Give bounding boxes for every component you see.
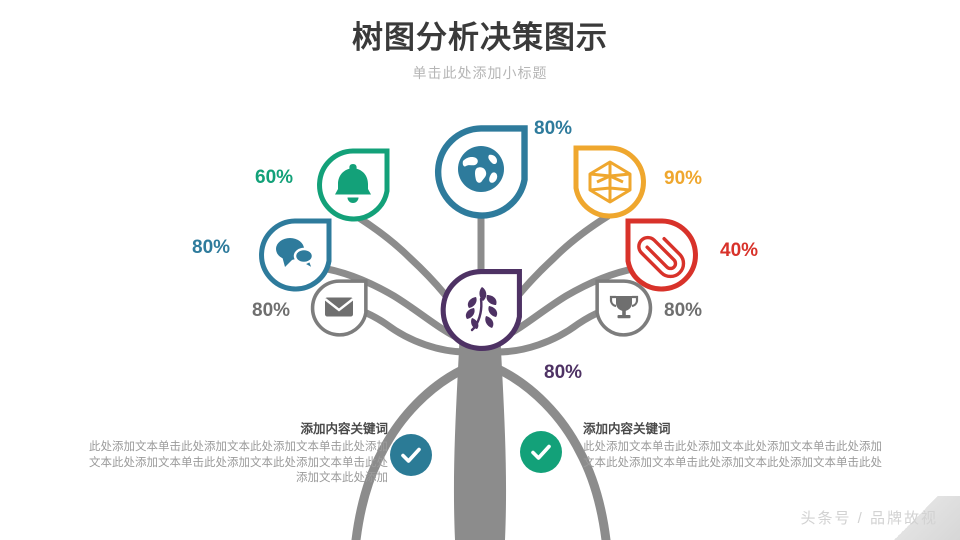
slide-canvas: 树图分析决策图示 单击此处添加小标题 [0, 0, 960, 540]
pct-label-trophy: 80% [664, 300, 702, 322]
pct-label-box: 90% [664, 168, 702, 190]
content-body-right: 此处添加文本单击此处添加文本此处添加文本单击此处添加文本此处添加文本单击此处添加… [583, 440, 883, 471]
pct-label-chat: 80% [192, 237, 230, 259]
node-chat[interactable] [262, 221, 329, 289]
content-keyword-right: 添加内容关键词 [583, 420, 883, 438]
node-bell[interactable] [320, 151, 387, 219]
check-icon [529, 440, 553, 464]
check-badge-right[interactable] [520, 431, 562, 473]
pct-label-mail: 80% [252, 300, 290, 322]
node-mail[interactable] [313, 281, 366, 335]
check-badge-left[interactable] [390, 434, 432, 476]
content-body-left: 此处添加文本单击此处添加文本此处添加文本单击此处添加文本此处添加文本单击此处添加… [88, 440, 388, 487]
check-icon [399, 443, 423, 467]
node-globe[interactable] [438, 128, 524, 215]
node-box[interactable] [576, 148, 643, 216]
pct-label-core: 80% [544, 362, 582, 384]
content-block-right: 添加内容关键词 此处添加文本单击此处添加文本此处添加文本单击此处添加文本此处添加… [583, 420, 883, 471]
node-clip[interactable] [628, 221, 695, 289]
content-keyword-left: 添加内容关键词 [88, 420, 388, 438]
node-trophy[interactable] [597, 281, 650, 335]
content-block-left: 添加内容关键词 此处添加文本单击此处添加文本此处添加文本单击此处添加文本此处添加… [88, 420, 388, 487]
pct-label-clip: 40% [720, 240, 758, 262]
node-core[interactable] [443, 272, 519, 349]
globe-icon [458, 146, 504, 192]
pct-label-globe: 80% [534, 118, 572, 140]
tree-trunk [454, 330, 506, 540]
envelope-icon [325, 298, 353, 317]
watermark-text: 头条号 / 品牌故视 [800, 507, 938, 528]
pct-label-bell: 60% [255, 167, 293, 189]
